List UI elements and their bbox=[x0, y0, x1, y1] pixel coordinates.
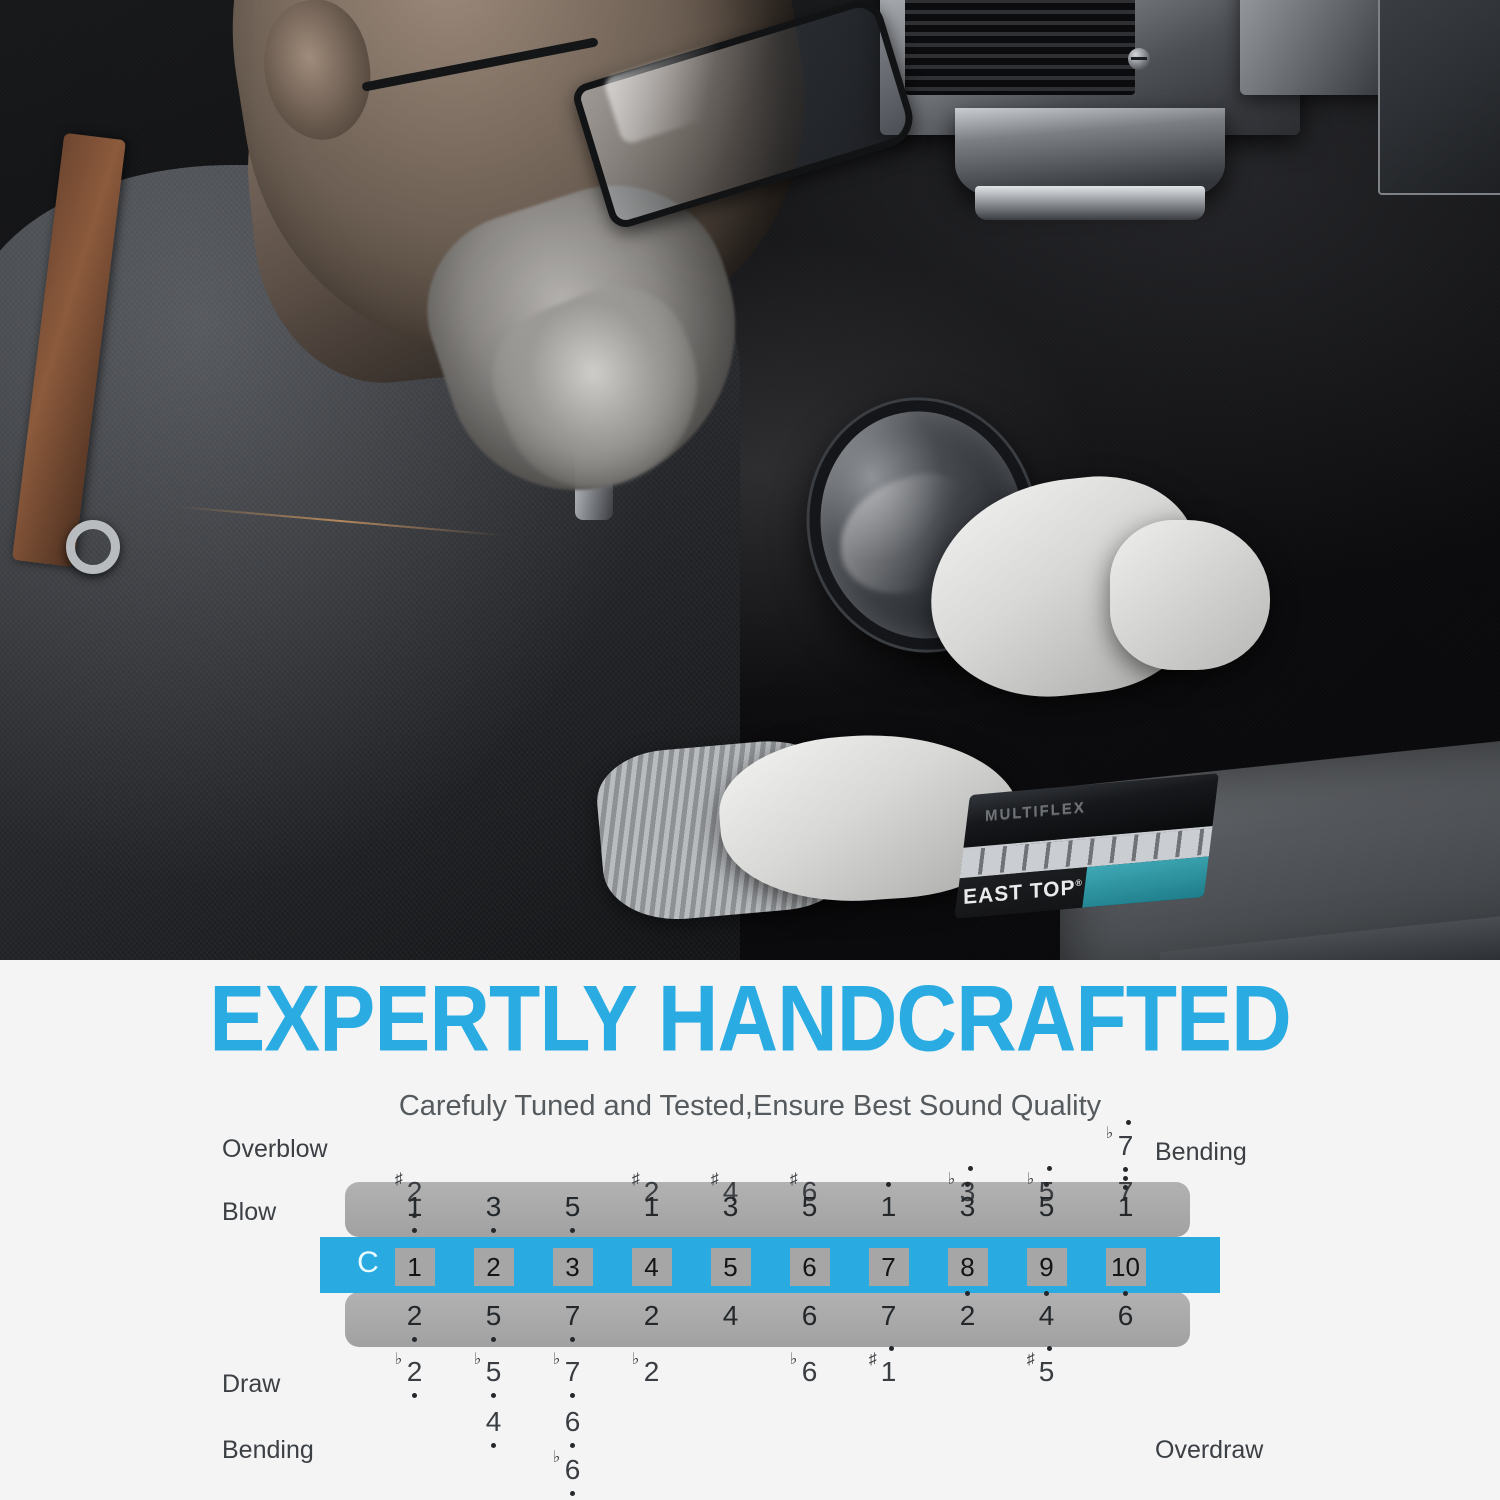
accidental-sign: ♭ bbox=[395, 1352, 403, 1368]
hole-number-box-7[interactable]: 7 bbox=[869, 1248, 909, 1286]
note-cell-bending_1: 1♯ bbox=[849, 1358, 928, 1386]
note-cell-draw: 6 bbox=[770, 1302, 849, 1330]
note-number: 2 bbox=[960, 1302, 976, 1330]
note-number: 1 bbox=[881, 1193, 897, 1221]
chart-label-bending-left: Bending bbox=[222, 1436, 314, 1465]
note-cell-blow: 1 bbox=[375, 1193, 454, 1221]
note-cell-bending_1: 7♭ bbox=[533, 1358, 612, 1386]
note-column-hole-3: 577♭66♭3 bbox=[533, 1130, 612, 1500]
note-number: 6 bbox=[802, 1302, 818, 1330]
note-column-hole-6: 6♯566♭6 bbox=[770, 1130, 849, 1500]
note-number: 6 bbox=[565, 1408, 581, 1436]
note-cell-bending_1: 5♯ bbox=[1007, 1358, 1086, 1386]
note-cell-draw: 2 bbox=[612, 1302, 691, 1330]
accidental-sign: ♯ bbox=[395, 1172, 403, 1188]
note-number: 7♭ bbox=[1118, 1132, 1134, 1160]
note-cell-draw: 2 bbox=[375, 1302, 454, 1330]
gloved-hand-right-cuff bbox=[1110, 520, 1270, 670]
hole-number-box-2[interactable]: 2 bbox=[474, 1248, 514, 1286]
accidental-sign: ♭ bbox=[474, 1352, 482, 1368]
note-number: 3 bbox=[486, 1193, 502, 1221]
hole-number-box-4[interactable]: 4 bbox=[632, 1248, 672, 1286]
accidental-sign: ♭ bbox=[948, 1172, 956, 1188]
note-column-hole-1: 2♯122♭1 bbox=[375, 1130, 454, 1500]
note-cell-draw: 4 bbox=[1007, 1302, 1086, 1330]
note-cell-blow: 3 bbox=[928, 1193, 1007, 1221]
registered-trademark-icon: ® bbox=[1075, 877, 1083, 888]
harmonica-note-chart: Overblow Blow Draw Bending Bending Overd… bbox=[0, 1130, 1500, 1500]
note-cell-draw: 2 bbox=[928, 1302, 1007, 1330]
note-cell-blow: 3 bbox=[454, 1193, 533, 1221]
note-cell-bending_1: 5♭ bbox=[454, 1358, 533, 1386]
hole-number-box-5[interactable]: 5 bbox=[711, 1248, 751, 1286]
hole-number-box-1[interactable]: 1 bbox=[395, 1248, 435, 1286]
note-number: 5 bbox=[802, 1193, 818, 1221]
accidental-sign: ♯ bbox=[1027, 1352, 1035, 1368]
note-number: 5 bbox=[565, 1193, 581, 1221]
note-cell-bending_2: 6 bbox=[533, 1408, 612, 1436]
note-number: 2♭ bbox=[644, 1358, 660, 1386]
note-column-hole-9: 5♭545♯9 bbox=[1007, 1130, 1086, 1500]
chart-label-blow: Blow bbox=[222, 1198, 276, 1227]
note-number: 5♭ bbox=[486, 1358, 502, 1386]
note-columns-grid: 2♯122♭1355♭42577♭66♭32♯122♭44♯3456♯566♭6… bbox=[375, 1130, 1165, 1500]
note-number: 6♭ bbox=[565, 1456, 581, 1484]
apron-metal-ring bbox=[66, 520, 120, 574]
accidental-sign: ♭ bbox=[1027, 1172, 1035, 1188]
accidental-sign: ♯ bbox=[790, 1172, 798, 1188]
note-number: 4 bbox=[1039, 1302, 1055, 1330]
panel-headline: EXPERTLY HANDCRAFTED bbox=[0, 964, 1500, 1073]
note-number: 1 bbox=[644, 1193, 660, 1221]
note-cell-blow: 1 bbox=[1086, 1193, 1165, 1221]
note-column-hole-10: 7♭71610 bbox=[1086, 1130, 1165, 1500]
note-cell-draw: 6 bbox=[1086, 1302, 1165, 1330]
note-number: 6♭ bbox=[802, 1358, 818, 1386]
note-number: 5 bbox=[1039, 1193, 1055, 1221]
note-number: 1 bbox=[407, 1193, 423, 1221]
note-number: 3 bbox=[960, 1193, 976, 1221]
note-column-hole-4: 2♯122♭4 bbox=[612, 1130, 691, 1500]
accidental-sign: ♭ bbox=[790, 1352, 798, 1368]
note-cell-draw: 5 bbox=[454, 1302, 533, 1330]
accidental-sign: ♭ bbox=[632, 1352, 640, 1368]
harmonica-product: MULTIFLEX EAST TOP® bbox=[955, 773, 1219, 917]
note-column-hole-2: 355♭42 bbox=[454, 1130, 533, 1500]
note-cell-blow: 1 bbox=[849, 1193, 928, 1221]
accidental-sign: ♯ bbox=[869, 1352, 877, 1368]
note-cell-draw: 7 bbox=[849, 1302, 928, 1330]
note-number: 7♭ bbox=[565, 1358, 581, 1386]
chart-label-overblow: Overblow bbox=[222, 1135, 328, 1164]
accidental-sign: ♭ bbox=[553, 1352, 561, 1368]
hole-number-box-8[interactable]: 8 bbox=[948, 1248, 988, 1286]
hole-number-box-10[interactable]: 10 bbox=[1106, 1248, 1146, 1286]
note-number: 7 bbox=[881, 1302, 897, 1330]
note-cell-blow: 5 bbox=[770, 1193, 849, 1221]
note-cell-blow: 5 bbox=[533, 1193, 612, 1221]
product-infographic: MULTIFLEX EAST TOP® EXPERTLY HANDCRAFTED… bbox=[0, 0, 1500, 1500]
microscope-focus-screw bbox=[1128, 48, 1150, 70]
note-cell-bending_3: 6♭ bbox=[533, 1456, 612, 1484]
accidental-sign: ♭ bbox=[1106, 1126, 1114, 1142]
note-column-hole-7: 171♯7 bbox=[849, 1130, 928, 1500]
note-number: 4 bbox=[486, 1408, 502, 1436]
accidental-sign: ♯ bbox=[632, 1172, 640, 1188]
hole-number-box-9[interactable]: 9 bbox=[1027, 1248, 1067, 1286]
note-number: 5♯ bbox=[1039, 1358, 1055, 1386]
note-cell-blow: 1 bbox=[612, 1193, 691, 1221]
chart-label-draw: Draw bbox=[222, 1370, 280, 1399]
note-number: 5 bbox=[486, 1302, 502, 1330]
note-column-hole-8: 3♭328 bbox=[928, 1130, 1007, 1500]
note-number: 2 bbox=[407, 1302, 423, 1330]
microscope-vent bbox=[905, 0, 1135, 95]
note-number: 6 bbox=[1118, 1302, 1134, 1330]
note-number: 2 bbox=[644, 1302, 660, 1330]
panel-subheadline: Carefuly Tuned and Tested,Ensure Best So… bbox=[0, 1090, 1500, 1123]
note-cell-bending_1: 6♭ bbox=[770, 1358, 849, 1386]
note-number: 7 bbox=[565, 1302, 581, 1330]
note-cell-bending_1: 2♭ bbox=[375, 1358, 454, 1386]
note-cell-bending_1: 2♭ bbox=[612, 1358, 691, 1386]
note-number: 3 bbox=[723, 1193, 739, 1221]
note-cell-blow: 5 bbox=[1007, 1193, 1086, 1221]
accidental-sign: ♯ bbox=[711, 1172, 719, 1188]
note-number: 1 bbox=[1118, 1193, 1134, 1221]
microscope-neck bbox=[955, 108, 1225, 198]
info-panel: EXPERTLY HANDCRAFTED Carefuly Tuned and … bbox=[0, 960, 1500, 1500]
note-column-hole-5: 4♯345 bbox=[691, 1130, 770, 1500]
hole-number-box-3[interactable]: 3 bbox=[553, 1248, 593, 1286]
product-lifestyle-photo: MULTIFLEX EAST TOP® bbox=[0, 0, 1500, 960]
chart-label-bending-right: Bending bbox=[1155, 1138, 1247, 1167]
note-cell-blow: 3 bbox=[691, 1193, 770, 1221]
note-number: 4 bbox=[723, 1302, 739, 1330]
chart-label-overdraw: Overdraw bbox=[1155, 1436, 1263, 1465]
accidental-sign: ♭ bbox=[553, 1450, 561, 1466]
microscope-side-panel bbox=[1378, 0, 1500, 195]
note-cell-bending_2: 4 bbox=[454, 1408, 533, 1436]
note-number: 1♯ bbox=[881, 1358, 897, 1386]
microscope-objective-lens bbox=[975, 186, 1205, 220]
note-cell-overblow_upper: 7♭ bbox=[1086, 1132, 1165, 1160]
note-cell-draw: 4 bbox=[691, 1302, 770, 1330]
note-cell-draw: 7 bbox=[533, 1302, 612, 1330]
note-number: 2♭ bbox=[407, 1358, 423, 1386]
hole-number-box-6[interactable]: 6 bbox=[790, 1248, 830, 1286]
